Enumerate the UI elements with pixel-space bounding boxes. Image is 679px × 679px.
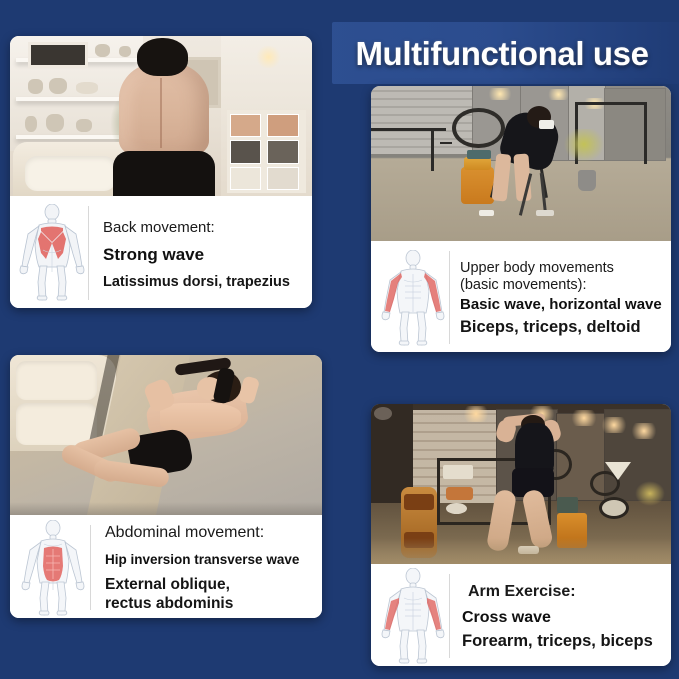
- photo-back-movement: [10, 36, 312, 196]
- photo-upper-body-movements: [371, 86, 671, 241]
- heading-back-movement: Back movement:: [103, 219, 304, 237]
- card-back-movement[interactable]: Back movement: Strong wave Latissimus do…: [10, 36, 312, 308]
- heading-upper-body-movements: Upper body movements: [460, 260, 667, 276]
- card-arm-exercise[interactable]: Arm Exercise: Cross wave Forearm, tricep…: [371, 404, 671, 666]
- movement-upper-body-movements: Basic wave, horizontal wave: [460, 296, 667, 314]
- body-front-diagram-icon: [371, 245, 449, 352]
- movement-back-movement: Strong wave: [103, 245, 304, 266]
- poster-root: Multifunctional use: [0, 0, 679, 679]
- page-title: Multifunctional use: [332, 28, 672, 80]
- text-back-movement: Back movement: Strong wave Latissimus do…: [89, 200, 312, 308]
- info-back-movement: Back movement: Strong wave Latissimus do…: [10, 196, 312, 308]
- heading-arm-exercise: Arm Exercise:: [462, 582, 665, 602]
- body-back-diagram-icon: [10, 200, 88, 308]
- body-front-diagram-icon: [371, 568, 449, 666]
- photo-arm-exercise: [371, 404, 671, 564]
- muscles-arm-exercise: Forearm, triceps, biceps: [462, 631, 665, 651]
- heading-abdominal-movement: Abdominal movement:: [105, 523, 316, 543]
- info-abdominal-movement: Abdominal movement: Hip inversion transv…: [10, 515, 322, 618]
- movement-abdominal-movement: Hip inversion transverse wave: [105, 552, 316, 568]
- info-arm-exercise: Arm Exercise: Cross wave Forearm, tricep…: [371, 564, 671, 666]
- card-upper-body-movements[interactable]: Upper body movements (basic movements): …: [371, 86, 671, 352]
- muscles-abdominal-movement-line2: rectus abdominis: [105, 595, 316, 614]
- text-abdominal-movement: Abdominal movement: Hip inversion transv…: [91, 519, 322, 618]
- text-upper-body-movements: Upper body movements (basic movements): …: [450, 245, 671, 352]
- text-arm-exercise: Arm Exercise: Cross wave Forearm, tricep…: [450, 568, 671, 666]
- heading-upper-body-movements-line2: (basic movements):: [460, 277, 667, 293]
- info-upper-body-movements: Upper body movements (basic movements): …: [371, 241, 671, 352]
- muscles-abdominal-movement: External oblique,: [105, 576, 316, 595]
- photo-abdominal-movement: [10, 355, 322, 515]
- body-front-diagram-icon: [10, 519, 90, 618]
- card-abdominal-movement[interactable]: Abdominal movement: Hip inversion transv…: [10, 355, 322, 618]
- muscles-upper-body-movements: Biceps, triceps, deltoid: [460, 317, 667, 337]
- movement-arm-exercise: Cross wave: [462, 608, 665, 628]
- muscles-back-movement: Latissimus dorsi, trapezius: [103, 274, 304, 292]
